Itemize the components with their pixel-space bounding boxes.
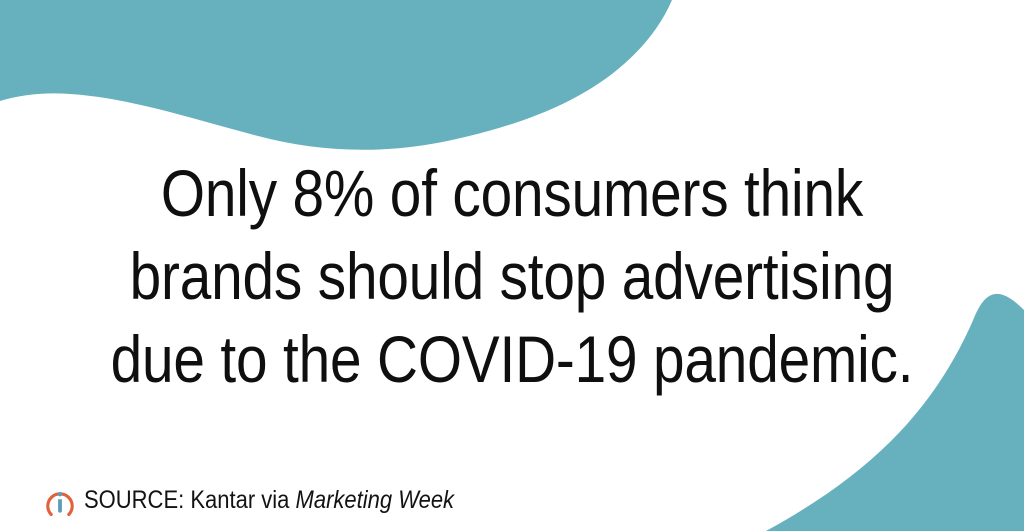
stat-card: Only 8% of consumers think brands should… bbox=[0, 0, 1024, 531]
source-publication: Marketing Week bbox=[296, 486, 455, 514]
source-attribution: SOURCE: Kantar via Marketing Week bbox=[45, 480, 505, 520]
source-text: SOURCE: Kantar via Marketing Week bbox=[84, 488, 454, 513]
info-person-logo-icon bbox=[45, 483, 75, 517]
headline-line-1: Only 8% of consumers think bbox=[72, 152, 953, 235]
top-teal-wave bbox=[0, 0, 672, 150]
headline-line-3: due to the COVID-19 pandemic. bbox=[72, 318, 953, 401]
source-prefix: SOURCE: Kantar via bbox=[84, 486, 296, 514]
page-title: Only 8% of consumers think brands should… bbox=[72, 152, 953, 401]
headline-line-2: brands should stop advertising bbox=[72, 235, 953, 318]
